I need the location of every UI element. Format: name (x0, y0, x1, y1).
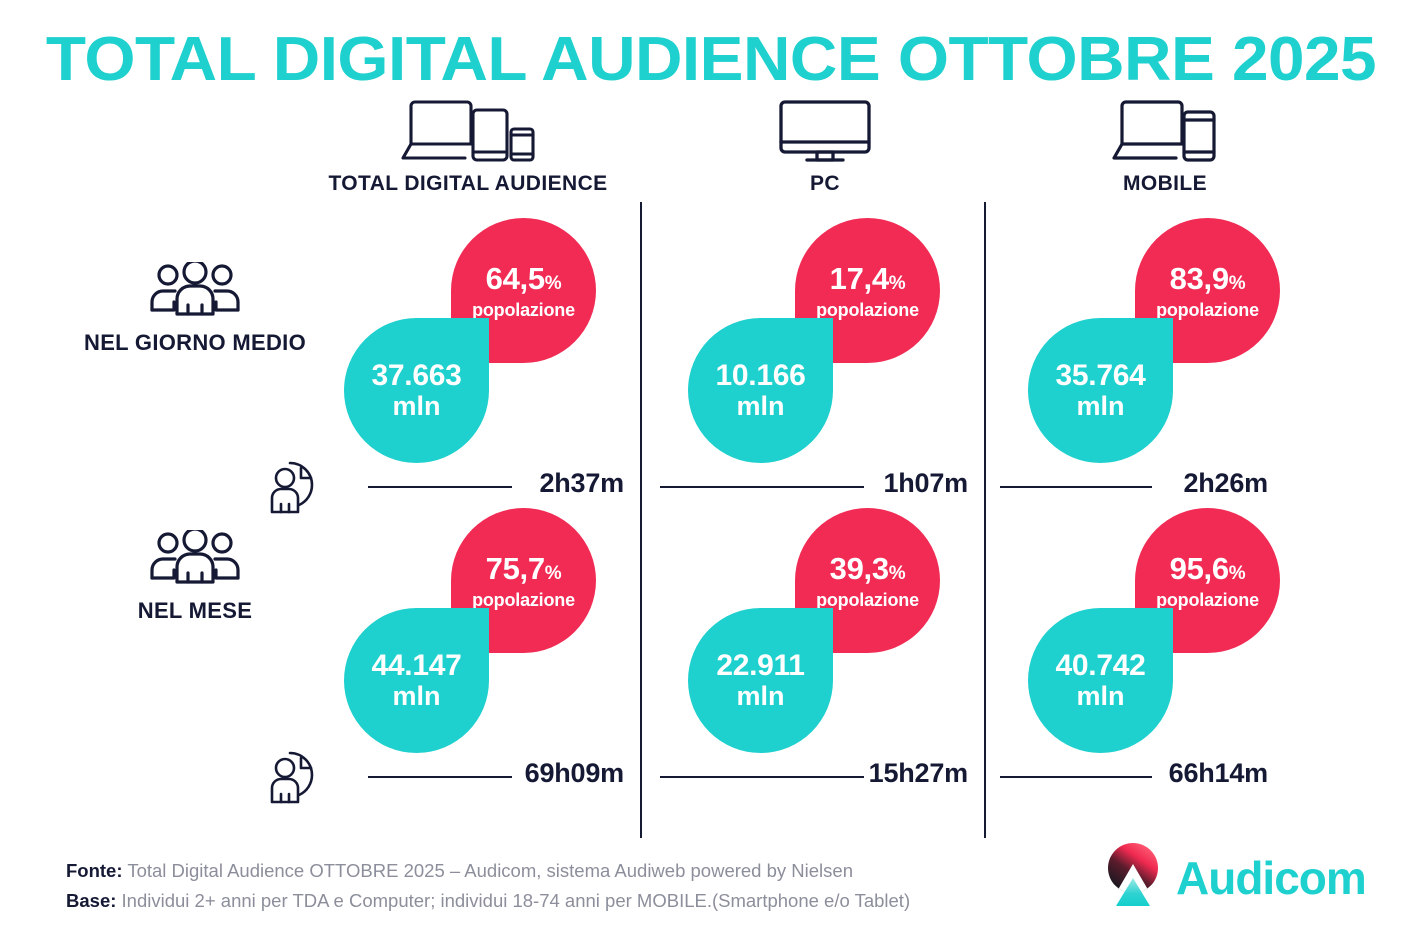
tablet-phone-icon (1010, 96, 1320, 164)
absolute-value: 35.764 (1056, 360, 1146, 392)
group-of-people-icon (60, 530, 330, 588)
percent-caption: popolazione (472, 301, 575, 319)
absolute-value: 37.663 (372, 360, 462, 392)
absolute-value: 22.911 (716, 650, 804, 682)
row-label-text: NEL GIORNO MEDIO (60, 330, 330, 356)
row-label-nel-giorno-medio: NEL GIORNO MEDIO (60, 262, 330, 356)
time-value-pc: 1h07m (756, 468, 968, 499)
person-clock-icon (268, 458, 346, 521)
column-header-total-digital-audience: TOTAL DIGITAL AUDIENCE (313, 96, 623, 196)
percent-value: 83,9% (1170, 263, 1246, 294)
percent-value: 64,5% (486, 263, 562, 294)
footer-fonte-value: Total Digital Audience OTTOBRE 2025 – Au… (127, 860, 853, 881)
percent-caption: popolazione (816, 591, 919, 609)
row-label-text: NEL MESE (60, 598, 330, 624)
column-header-label: TOTAL DIGITAL AUDIENCE (313, 172, 623, 196)
time-value-mobile: 66h14m (1000, 758, 1268, 789)
metric-pair-mobile-month: 95,6% popolazione 40.742 mln (1028, 508, 1280, 753)
column-divider (640, 202, 642, 838)
absolute-unit: mln (736, 392, 784, 421)
percent-value: 95,6% (1170, 553, 1246, 584)
absolute-unit: mln (736, 682, 784, 711)
footer-base-value: Individui 2+ anni per TDA e Computer; in… (122, 890, 911, 911)
absolute-unit: mln (1076, 682, 1124, 711)
metric-pair-mobile-day: 83,9% popolazione 35.764 mln (1028, 218, 1280, 463)
percent-value: 75,7% (486, 553, 562, 584)
laptop-tablet-phone-icon (313, 96, 623, 164)
absolute-value: 10.166 (716, 360, 806, 392)
percent-caption: popolazione (472, 591, 575, 609)
metric-pair-tda-month: 75,7% popolazione 44.147 mln (344, 508, 596, 753)
audicom-logo: Audicom (1102, 842, 1366, 913)
time-value-tda: 69h09m (402, 758, 624, 789)
absolute-drop: 40.742 mln (1028, 608, 1173, 753)
column-header-label: PC (670, 172, 980, 196)
time-value-tda: 2h37m (402, 468, 624, 499)
footer-fonte-key: Fonte: (66, 860, 123, 881)
percent-value: 17,4% (830, 263, 906, 294)
column-header-mobile: MOBILE (1010, 96, 1320, 196)
absolute-unit: mln (392, 392, 440, 421)
absolute-drop: 22.911 mln (688, 608, 833, 753)
percent-caption: popolazione (1156, 301, 1259, 319)
person-clock-icon (268, 748, 346, 811)
page-title: TOTAL DIGITAL AUDIENCE OTTOBRE 2025 (0, 24, 1422, 95)
absolute-drop: 10.166 mln (688, 318, 833, 463)
column-header-pc: PC (670, 96, 980, 196)
percent-caption: popolazione (1156, 591, 1259, 609)
desktop-monitor-icon (670, 96, 980, 164)
absolute-value: 44.147 (372, 650, 462, 682)
absolute-drop: 44.147 mln (344, 608, 489, 753)
absolute-unit: mln (1076, 392, 1124, 421)
footer-base-key: Base: (66, 890, 116, 911)
absolute-unit: mln (392, 682, 440, 711)
absolute-value: 40.742 (1056, 650, 1146, 682)
footer-base-line: Base: Individui 2+ anni per TDA e Comput… (66, 886, 1096, 916)
absolute-drop: 37.663 mln (344, 318, 489, 463)
column-header-label: MOBILE (1010, 172, 1320, 196)
time-value-pc: 15h27m (756, 758, 968, 789)
row-label-nel-mese: NEL MESE (60, 530, 330, 624)
audicom-logo-mark (1102, 842, 1164, 913)
footer-fonte-line: Fonte: Total Digital Audience OTTOBRE 20… (66, 856, 1096, 886)
time-row-month: 69h09m 15h27m 66h14m (0, 748, 1422, 808)
percent-value: 39,3% (830, 553, 906, 584)
group-of-people-icon (60, 262, 330, 320)
metric-pair-pc-day: 17,4% popolazione 10.166 mln (688, 218, 940, 463)
metric-pair-tda-day: 64,5% popolazione 37.663 mln (344, 218, 596, 463)
time-value-mobile: 2h26m (1000, 468, 1268, 499)
absolute-drop: 35.764 mln (1028, 318, 1173, 463)
percent-caption: popolazione (816, 301, 919, 319)
audicom-logo-text: Audicom (1176, 855, 1366, 901)
metric-pair-pc-month: 39,3% popolazione 22.911 mln (688, 508, 940, 753)
column-divider (984, 202, 986, 838)
footer-notes: Fonte: Total Digital Audience OTTOBRE 20… (66, 856, 1096, 916)
